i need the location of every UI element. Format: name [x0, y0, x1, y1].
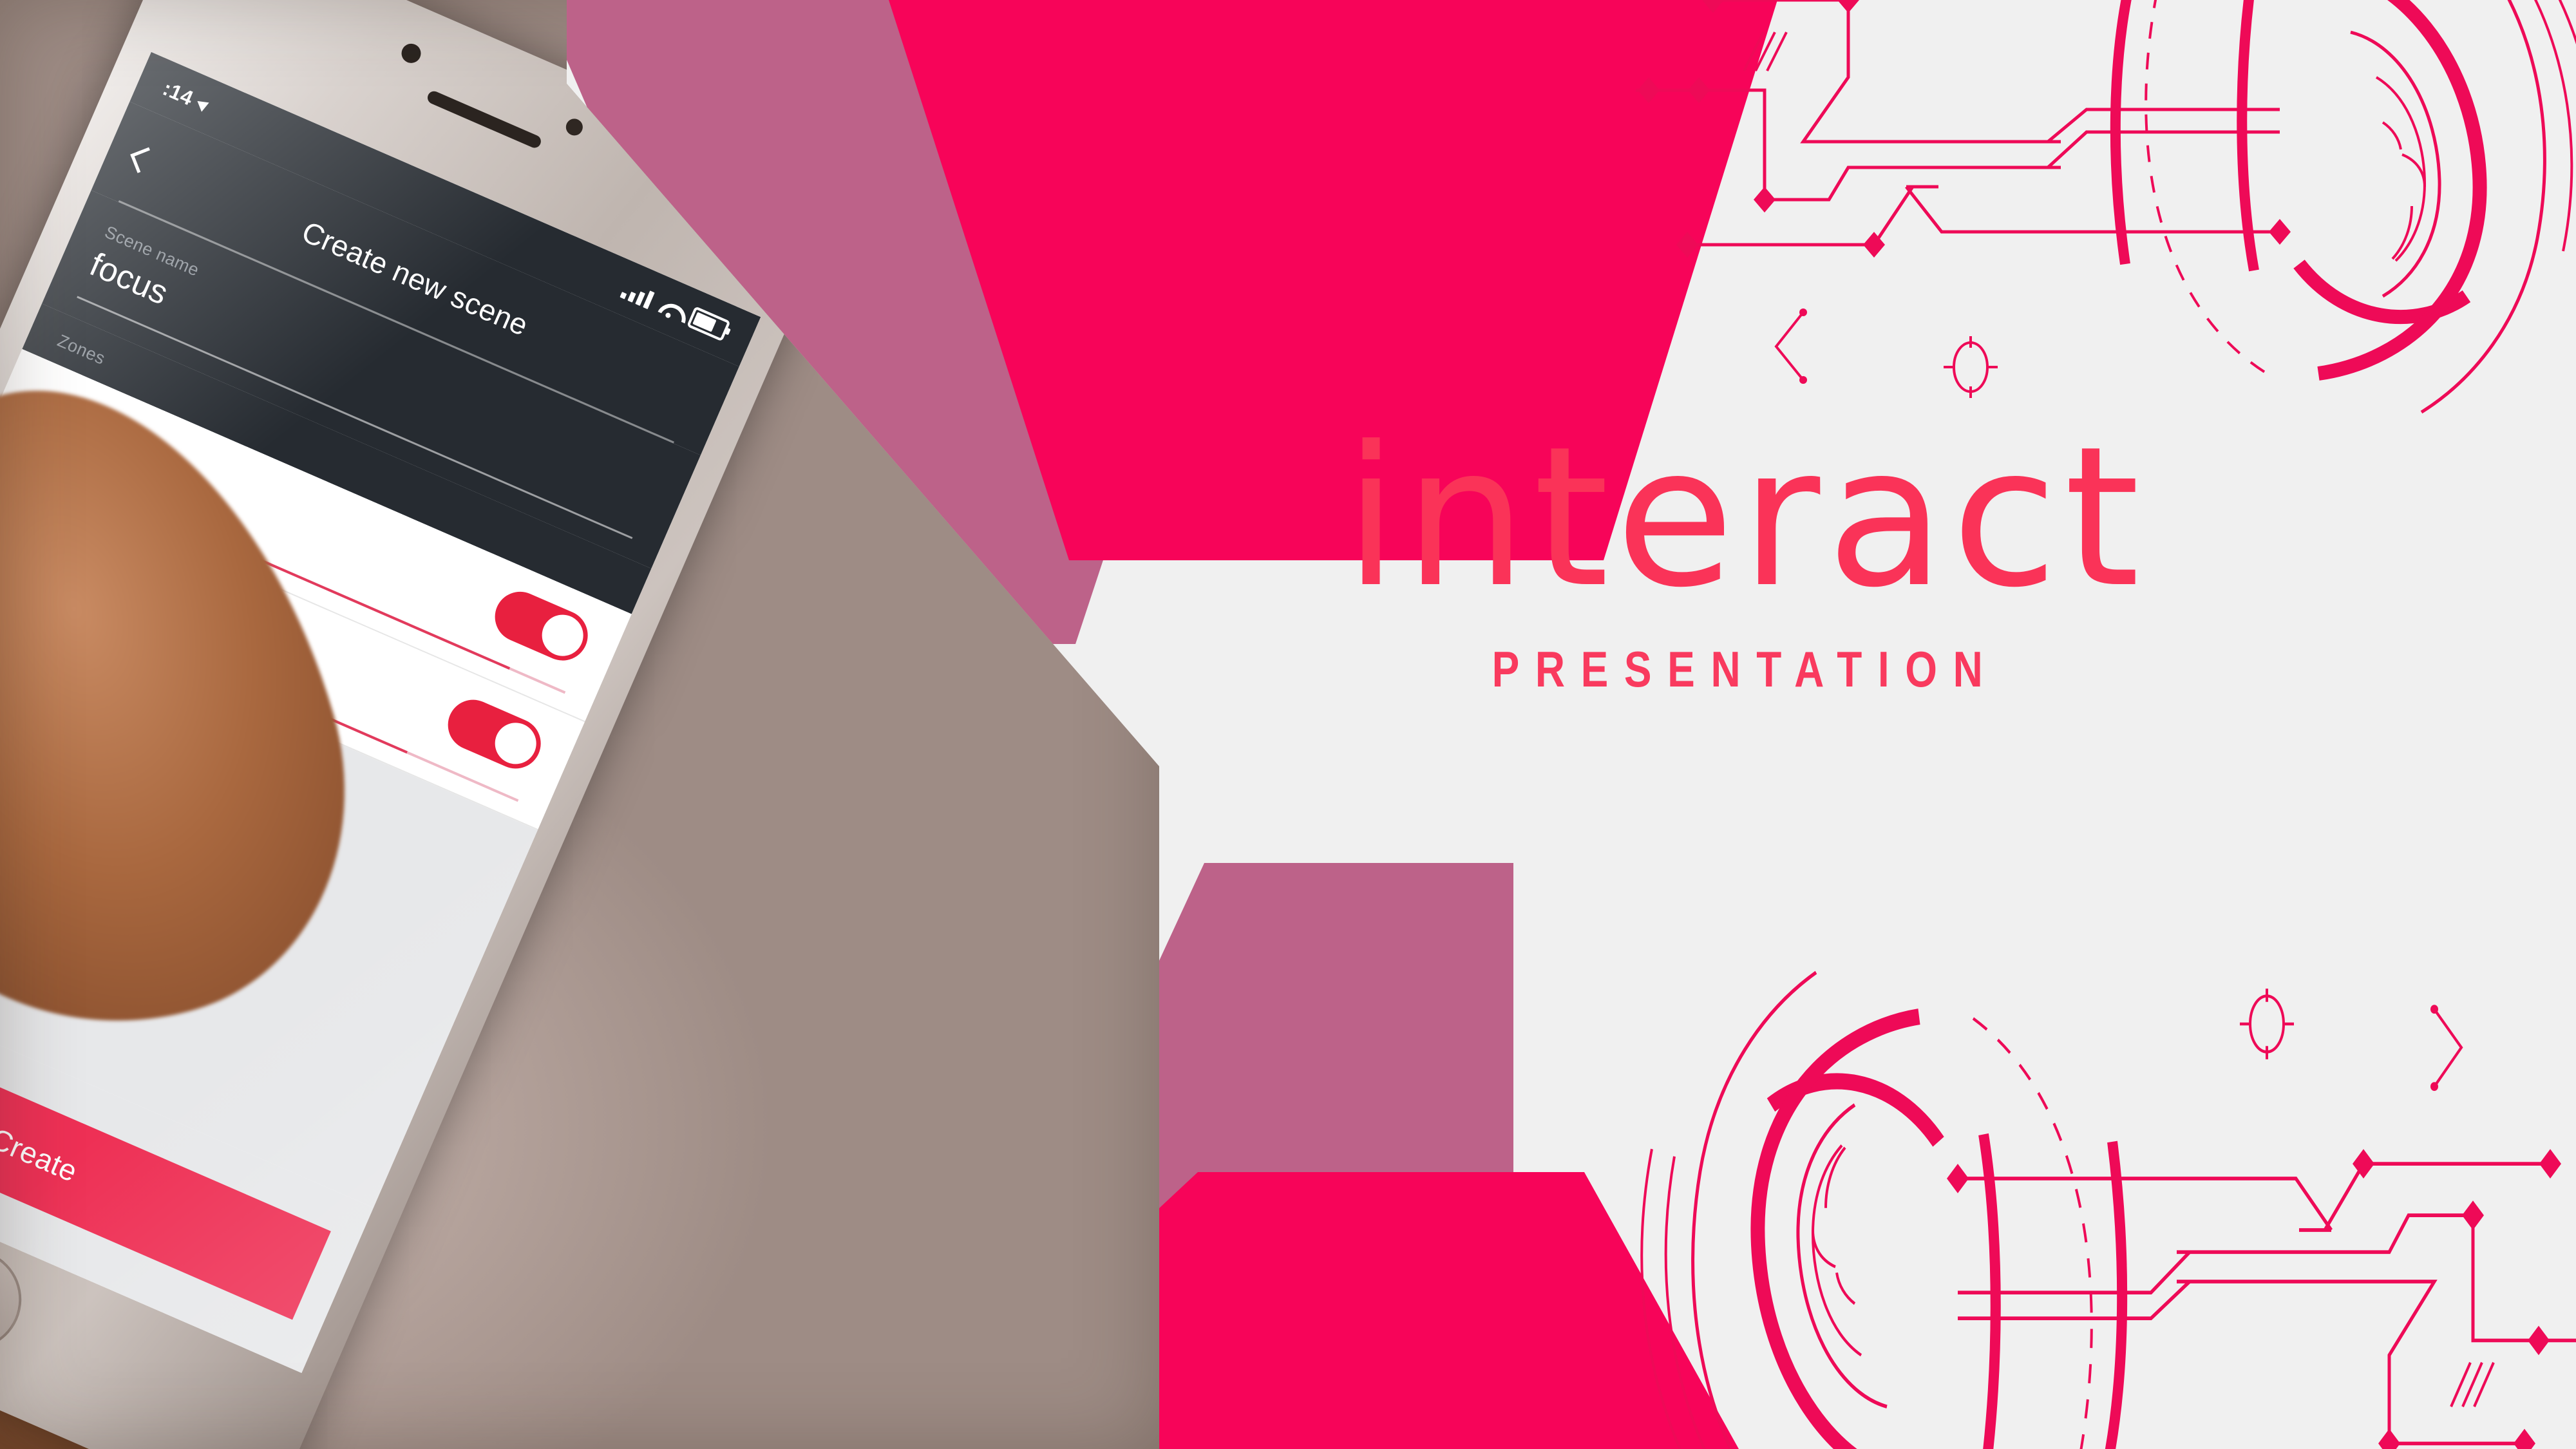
earpiece-speaker	[426, 90, 543, 150]
presentation-slide: :14 Create new scene	[0, 0, 2576, 1449]
status-time: :14	[159, 76, 197, 110]
brand-subtitle: PRESENTATION	[1244, 640, 2247, 699]
brand-block: interact PRESENTATION	[1133, 425, 2357, 699]
circuit-decoration-bottom-right	[1636, 972, 2576, 1449]
status-bar-left: :14	[159, 76, 213, 117]
signal-bars-icon	[620, 281, 654, 309]
circuit-decoration-top-right	[1636, 0, 2576, 412]
location-arrow-icon	[197, 97, 211, 112]
battery-icon	[687, 306, 731, 341]
wifi-icon	[657, 298, 684, 322]
chevron-left-icon[interactable]	[130, 147, 156, 173]
proximity-sensor	[563, 116, 585, 138]
front-camera-icon	[399, 41, 424, 66]
brand-wordmark: interact	[1133, 425, 2357, 611]
